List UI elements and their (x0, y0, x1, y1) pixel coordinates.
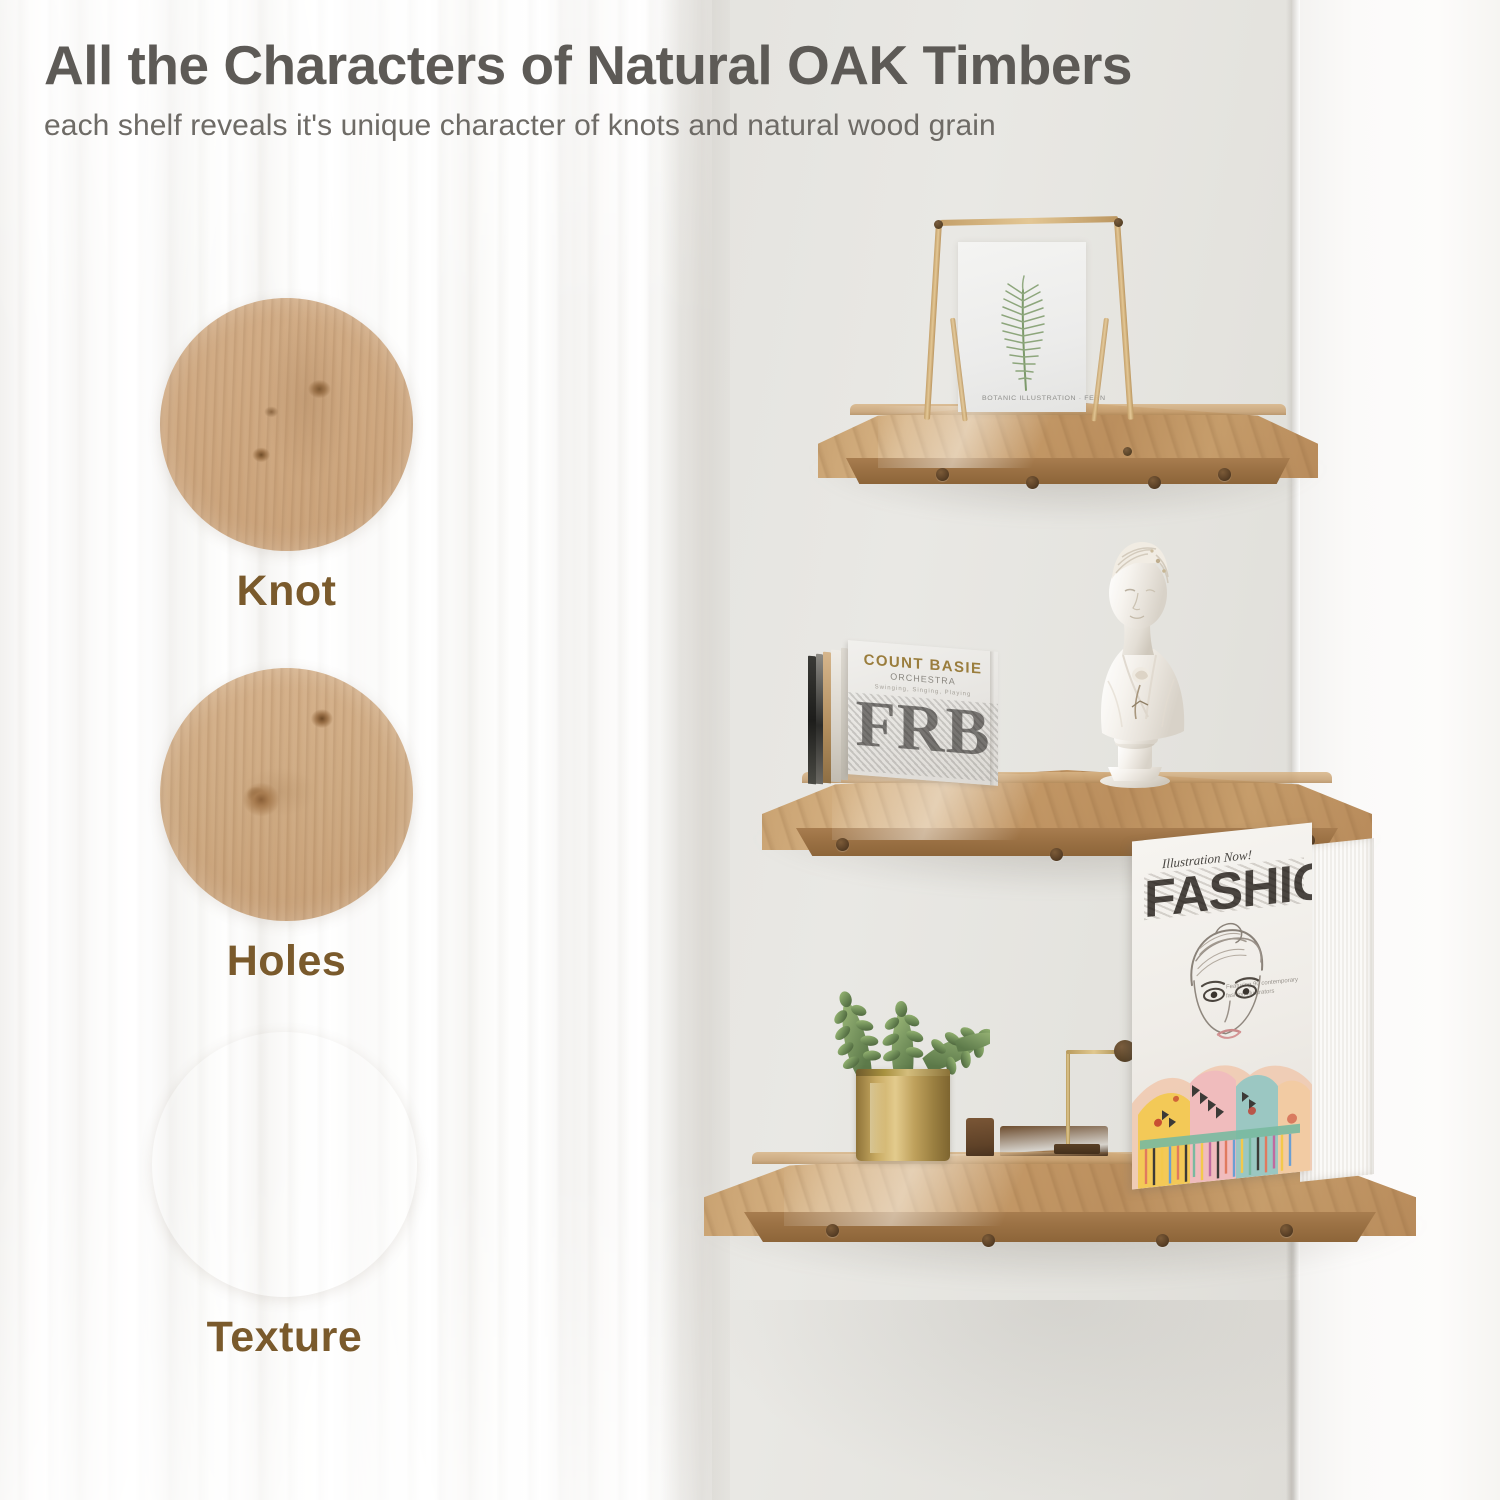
wood-sample-holes-item: Holes (160, 668, 413, 986)
brass-plant-pot (856, 1069, 950, 1161)
frame-hinge-knob-left (934, 220, 943, 229)
magazine-spine-2 (816, 654, 823, 785)
classical-female-bust-statue (1078, 505, 1203, 790)
floor-corner-shadow (700, 1300, 1300, 1500)
fashion-cover-pattern (1132, 1045, 1312, 1190)
wood-sample-texture-label: Texture (152, 1313, 417, 1362)
bust-statue-icon (1078, 505, 1203, 790)
fashion-illustration-book: Illustration Now! FASHION Featuring 90 c… (1132, 832, 1394, 1184)
bookend-rod-vertical-left (1066, 1052, 1070, 1148)
bottom-shelf-screw-4 (1280, 1224, 1293, 1237)
wood-sample-holes (160, 668, 413, 921)
middle-shelf-screw-1 (836, 838, 849, 851)
frame-right-leg (1091, 318, 1109, 422)
magazine-spine-1 (808, 656, 816, 785)
frame-foot-knob (1123, 447, 1132, 456)
wood-sample-texture (152, 1032, 417, 1297)
wood-sample-texture-item: Texture (152, 1032, 417, 1362)
wood-sample-knot-item: Knot (160, 298, 413, 616)
pot-highlight (870, 1083, 886, 1153)
page-title: All the Characters of Natural OAK Timber… (44, 36, 1444, 95)
bottom-shelf-screw-1 (826, 1224, 839, 1237)
pot-rim (856, 1069, 950, 1076)
frame-right-bar (1114, 220, 1134, 420)
count-basie-album-cover: COUNT BASIE ORCHESTRA Swinging, Singing,… (848, 640, 998, 786)
frame-top-bar (940, 216, 1118, 226)
album-halftone-texture (848, 692, 998, 782)
top-shelf-screw-1 (936, 468, 949, 481)
album-edge-shade (990, 651, 995, 785)
brass-easel-picture-frame: BOTANIC ILLUSTRATION · FERN (928, 200, 1138, 415)
magazine-spine-3 (823, 652, 831, 784)
bottom-shelf-screw-2 (982, 1234, 995, 1247)
fashion-book-cover: Illustration Now! FASHION Featuring 90 c… (1132, 823, 1312, 1190)
magazine-stack: COUNT BASIE ORCHESTRA Swinging, Singing,… (806, 640, 1021, 790)
fern-leaf-icon (986, 260, 1060, 394)
header-block: All the Characters of Natural OAK Timber… (44, 36, 1444, 143)
frame-hinge-knob-right (1114, 218, 1123, 227)
bookend-base-left (1054, 1144, 1100, 1154)
magazine-spine-5 (841, 648, 848, 781)
wood-sample-knot-label: Knot (160, 567, 413, 616)
magazine-spine-4 (831, 650, 841, 783)
print-caption: BOTANIC ILLUSTRATION · FERN (982, 395, 1106, 401)
page-subtitle: each shelf reveals it's unique character… (44, 109, 1444, 143)
wood-sample-holes-label: Holes (160, 937, 413, 986)
small-wood-block (966, 1118, 994, 1156)
middle-shelf-screw-2 (1050, 848, 1063, 861)
top-shelf-screw-2 (1026, 476, 1039, 489)
top-corner-shelf (818, 402, 1318, 512)
botanical-print-paper: BOTANIC ILLUSTRATION · FERN (958, 242, 1086, 412)
wood-sample-knot (160, 298, 413, 551)
top-shelf-screw-4 (1218, 468, 1231, 481)
bottom-shelf-screw-3 (1156, 1234, 1169, 1247)
top-shelf-screw-3 (1148, 476, 1161, 489)
product-lifestyle-scene: All the Characters of Natural OAK Timber… (0, 0, 1500, 1500)
